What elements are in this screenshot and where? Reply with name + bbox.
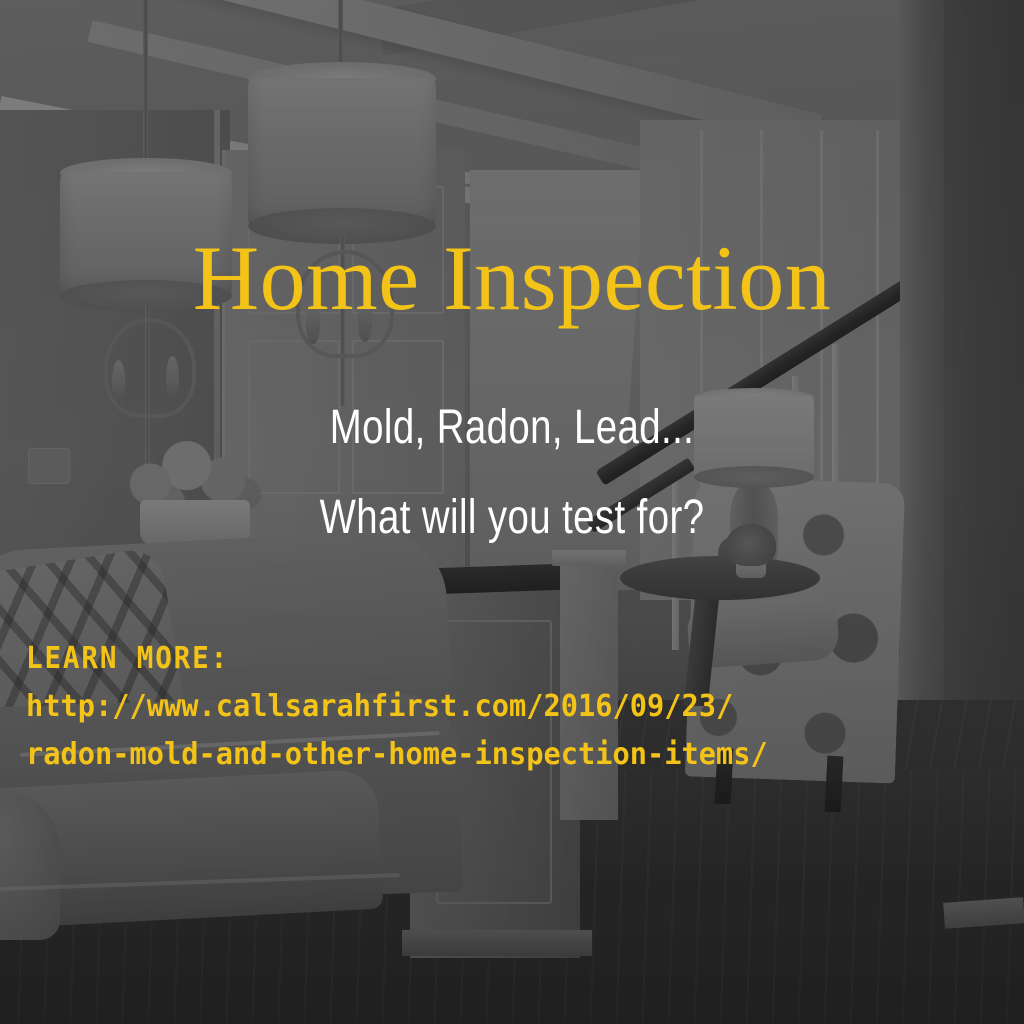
text-layer: Home Inspection Mold, Radon, Lead... Wha… (0, 0, 1024, 1024)
subtitle-block: Mold, Radon, Lead... What will you test … (0, 404, 1024, 542)
subtitle-line-1: Mold, Radon, Lead... (102, 404, 921, 452)
learn-more-block: LEARN MORE: http://www.callsarahfirst.co… (26, 644, 803, 770)
url-line-2[interactable]: radon-mold-and-other-home-inspection-ite… (26, 740, 768, 770)
learn-more-label: LEARN MORE: (26, 644, 741, 674)
page-title: Home Inspection (0, 232, 1024, 324)
subtitle-line-2: What will you test for? (102, 494, 921, 542)
url-line-1[interactable]: http://www.callsarahfirst.com/2016/09/23… (26, 692, 768, 722)
home-inspection-poster: Home Inspection Mold, Radon, Lead... Wha… (0, 0, 1024, 1024)
